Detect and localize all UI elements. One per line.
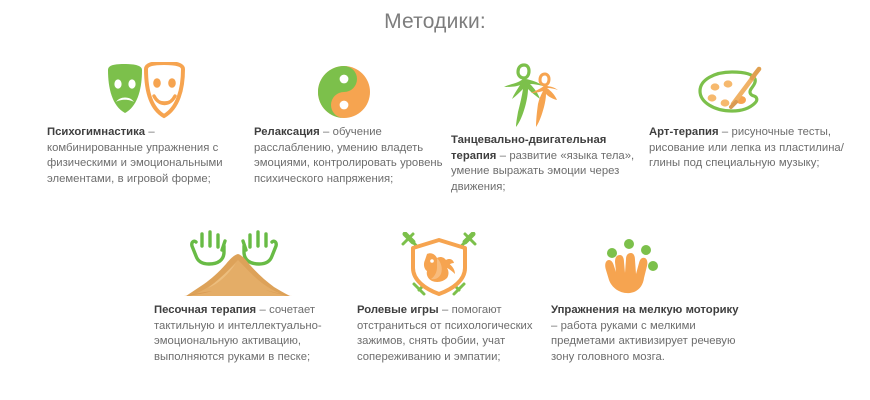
icon-container [47,58,237,120]
method-card-fine-motor: Упражнения на мелкую моторику – работа р… [551,228,741,365]
card-dash: – [439,304,452,316]
card-dash: – [320,126,333,138]
card-dash: – [496,150,509,162]
card-term: Психогимнастика [47,126,145,138]
theater-masks-icon [102,62,188,120]
card-dash: – [551,320,561,332]
dancing-figures-icon [499,62,563,128]
card-term: Арт-терапия [649,126,719,138]
method-card-relaxation: Релаксация – обучение расслаблению, умен… [254,58,444,187]
icon-container [649,58,845,120]
card-text: Ролевые игры – помогают отстраниться от … [357,303,545,365]
card-body: работа руками с мелкими предметами актив… [551,320,735,363]
card-dash: – [719,126,732,138]
shield-dragon-swords-icon [397,232,481,298]
card-term: Упражнения на мелкую моторику [551,304,739,316]
card-text: Арт-терапия – рисуночные тесты, рисовани… [649,125,845,172]
method-card-role-games: Ролевые игры – помогают отстраниться от … [357,228,545,365]
card-text: Психогимнастика – комбинированные упражн… [47,125,237,187]
card-body: комбинированные упражнения с физическими… [47,142,223,185]
icon-container [451,58,643,128]
icon-container [357,228,545,298]
method-card-dance-therapy: Танцевально-двигательная терапия – разви… [451,58,643,195]
method-card-sand-therapy: Песочная терапия – сочетает тактильную и… [154,228,346,365]
card-text: Релаксация – обучение расслаблению, умен… [254,125,444,187]
card-text: Упражнения на мелкую моторику – работа р… [551,303,741,365]
icon-container [551,228,741,298]
icon-container [254,58,444,120]
hands-over-sand-icon [178,230,298,298]
page-title: Методики: [0,10,870,34]
methods-infographic: Методики: Психо [0,0,870,400]
yin-yang-icon [316,64,372,120]
card-term: Ролевые игры [357,304,439,316]
icon-container [154,228,346,298]
open-hand-dots-icon [596,236,668,298]
card-term: Песочная терапия [154,304,256,316]
card-term: Релаксация [254,126,320,138]
paint-palette-icon [694,64,778,120]
card-text: Танцевально-двигательная терапия – разви… [451,133,643,195]
method-card-psychogymnastics: Психогимнастика – комбинированные упражн… [47,58,237,187]
card-dash: – [145,126,155,138]
method-card-art-therapy: Арт-терапия – рисуночные тесты, рисовани… [649,58,845,172]
card-text: Песочная терапия – сочетает тактильную и… [154,303,346,365]
card-dash: – [256,304,269,316]
